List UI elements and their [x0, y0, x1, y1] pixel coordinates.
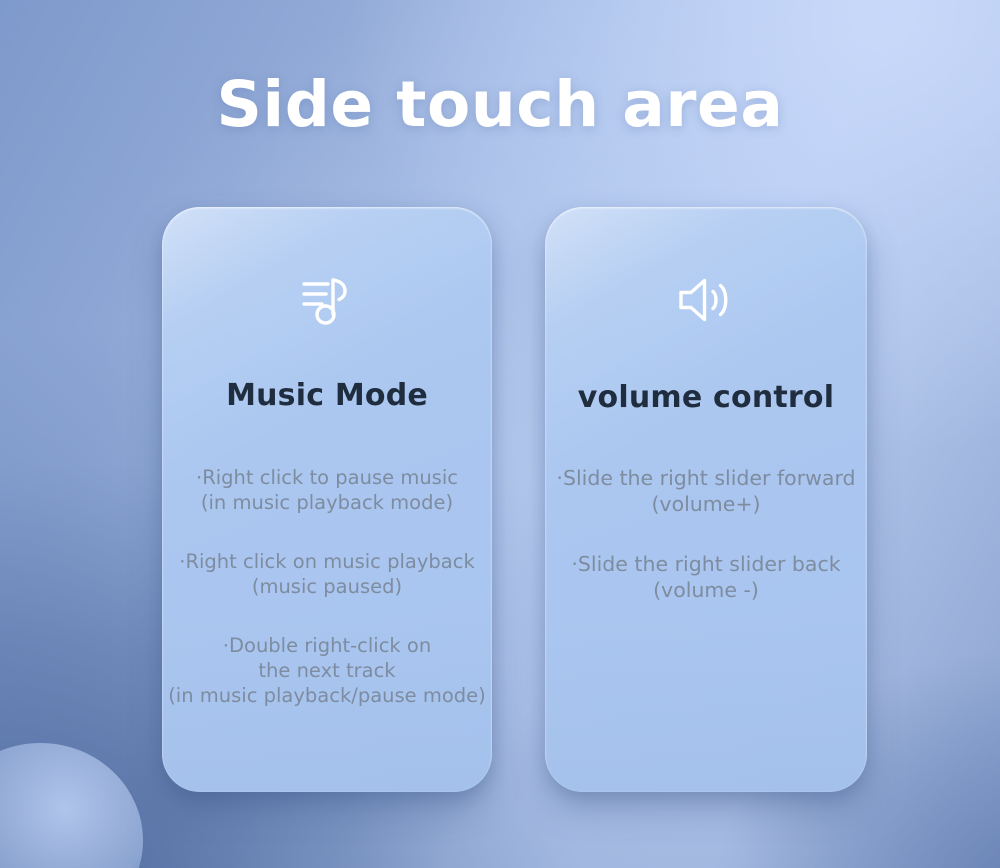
instruction-line: (volume+) — [545, 491, 867, 517]
cards-container: Music Mode ·Right click to pause music (… — [0, 0, 1000, 868]
card-heading-music-mode: Music Mode — [162, 379, 492, 412]
instruction-line: (in music playback mode) — [162, 490, 492, 515]
instruction-line: ·Right click to pause music — [162, 465, 492, 490]
instruction-line: ·Double right-click on — [162, 633, 492, 658]
instruction-paragraph: ·Right click on music playback (music pa… — [162, 549, 492, 599]
instruction-paragraph: ·Double right-click on the next track (i… — [162, 633, 492, 708]
card-heading-volume-control: volume control — [545, 381, 867, 414]
card-volume-control[interactable]: volume control ·Slide the right slider f… — [545, 207, 867, 792]
instruction-line: the next track — [162, 658, 492, 683]
instruction-line: ·Slide the right slider back — [545, 551, 867, 577]
instruction-paragraph: ·Slide the right slider forward (volume+… — [545, 465, 867, 517]
instruction-line: (in music playback/pause mode) — [162, 683, 492, 708]
instruction-paragraph: ·Slide the right slider back (volume -) — [545, 551, 867, 603]
card-body-music-mode: ·Right click to pause music (in music pl… — [162, 465, 492, 708]
speaker-volume-icon — [545, 264, 867, 336]
card-music-mode[interactable]: Music Mode ·Right click to pause music (… — [162, 207, 492, 792]
instruction-line: ·Right click on music playback — [162, 549, 492, 574]
instruction-paragraph: ·Right click to pause music (in music pl… — [162, 465, 492, 515]
instruction-line: ·Slide the right slider forward — [545, 465, 867, 491]
music-playlist-note-icon — [162, 264, 492, 336]
instruction-line: (music paused) — [162, 574, 492, 599]
card-body-volume-control: ·Slide the right slider forward (volume+… — [545, 465, 867, 603]
instruction-line: (volume -) — [545, 577, 867, 603]
